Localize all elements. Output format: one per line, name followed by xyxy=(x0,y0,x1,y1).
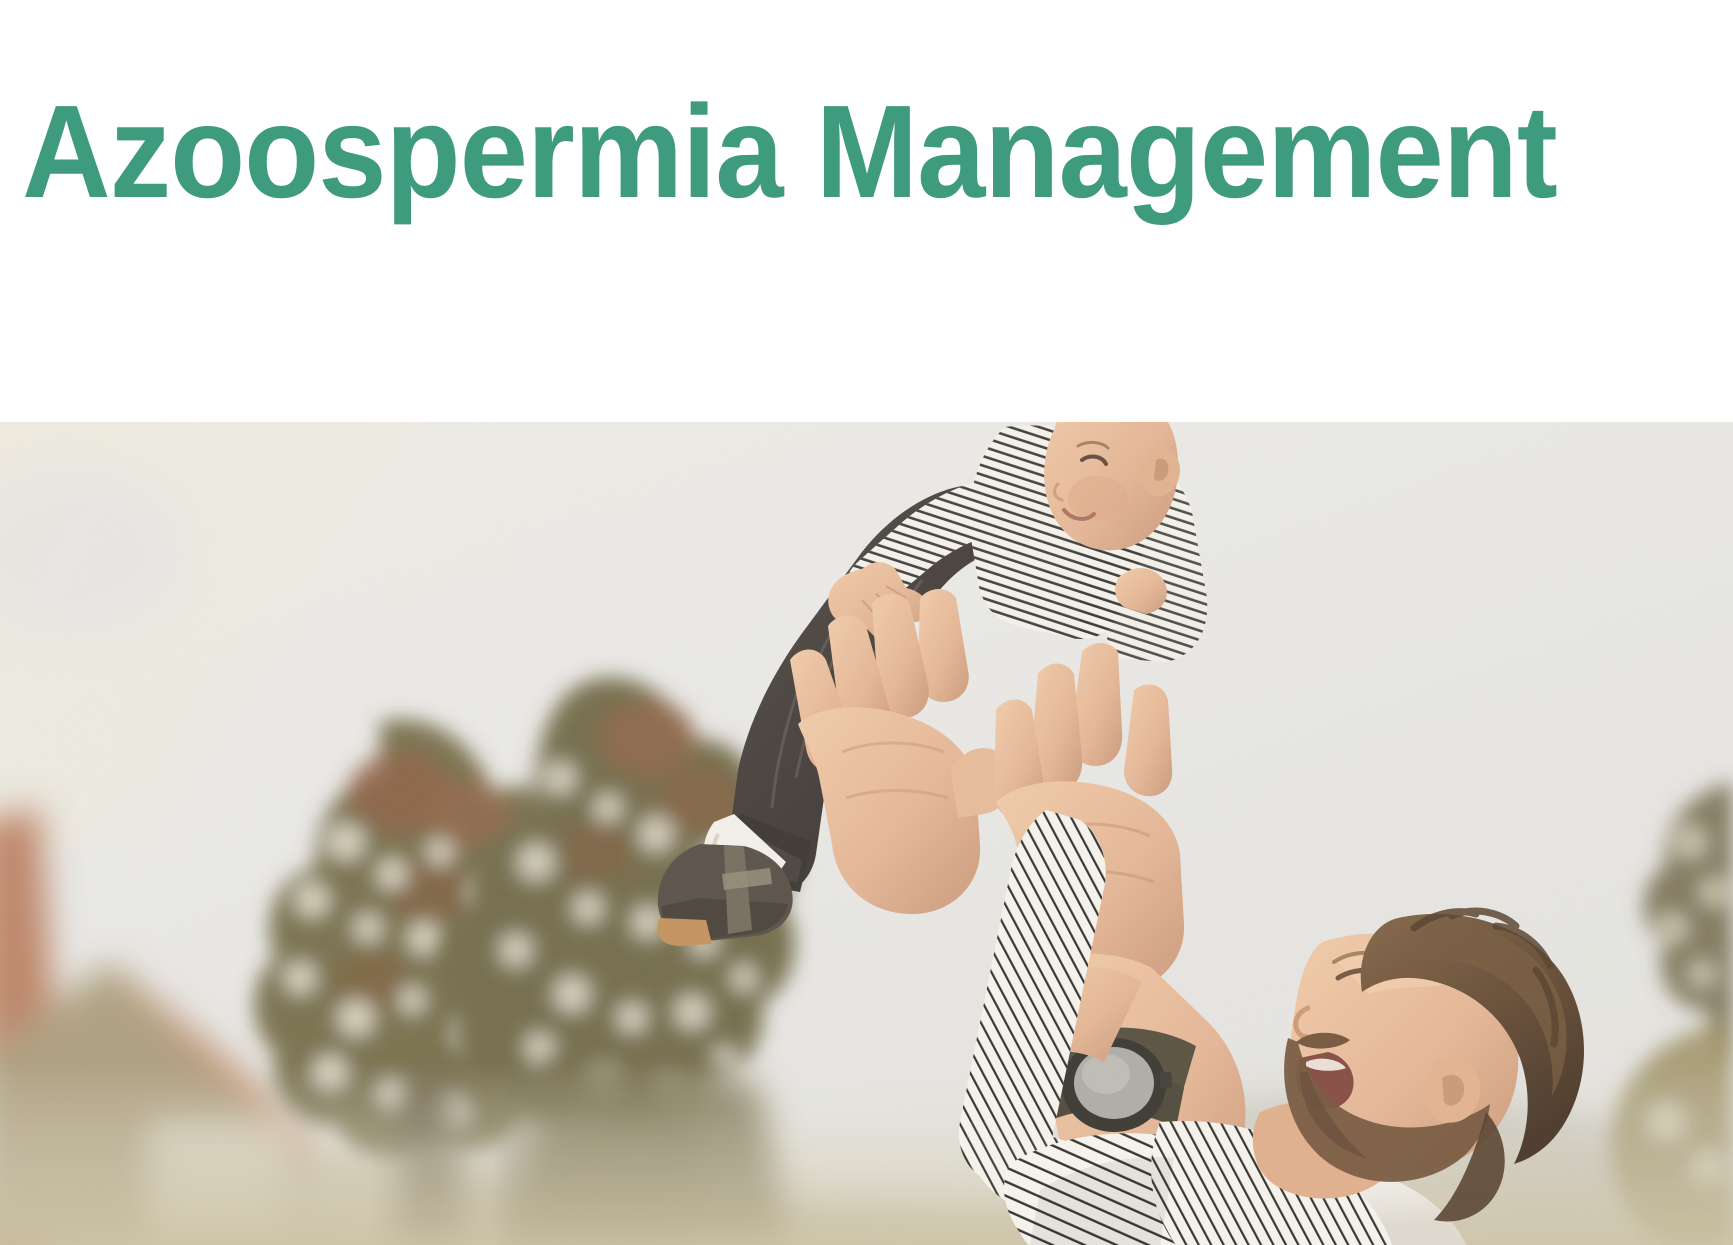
slide-page: Azoospermia Management xyxy=(0,0,1733,1245)
page-title: Azoospermia Management xyxy=(22,86,1557,218)
photo-wash xyxy=(0,422,1733,1245)
header-band: Azoospermia Management xyxy=(0,0,1733,422)
hero-photo-illustration xyxy=(0,422,1733,1245)
hero-photo xyxy=(0,422,1733,1245)
